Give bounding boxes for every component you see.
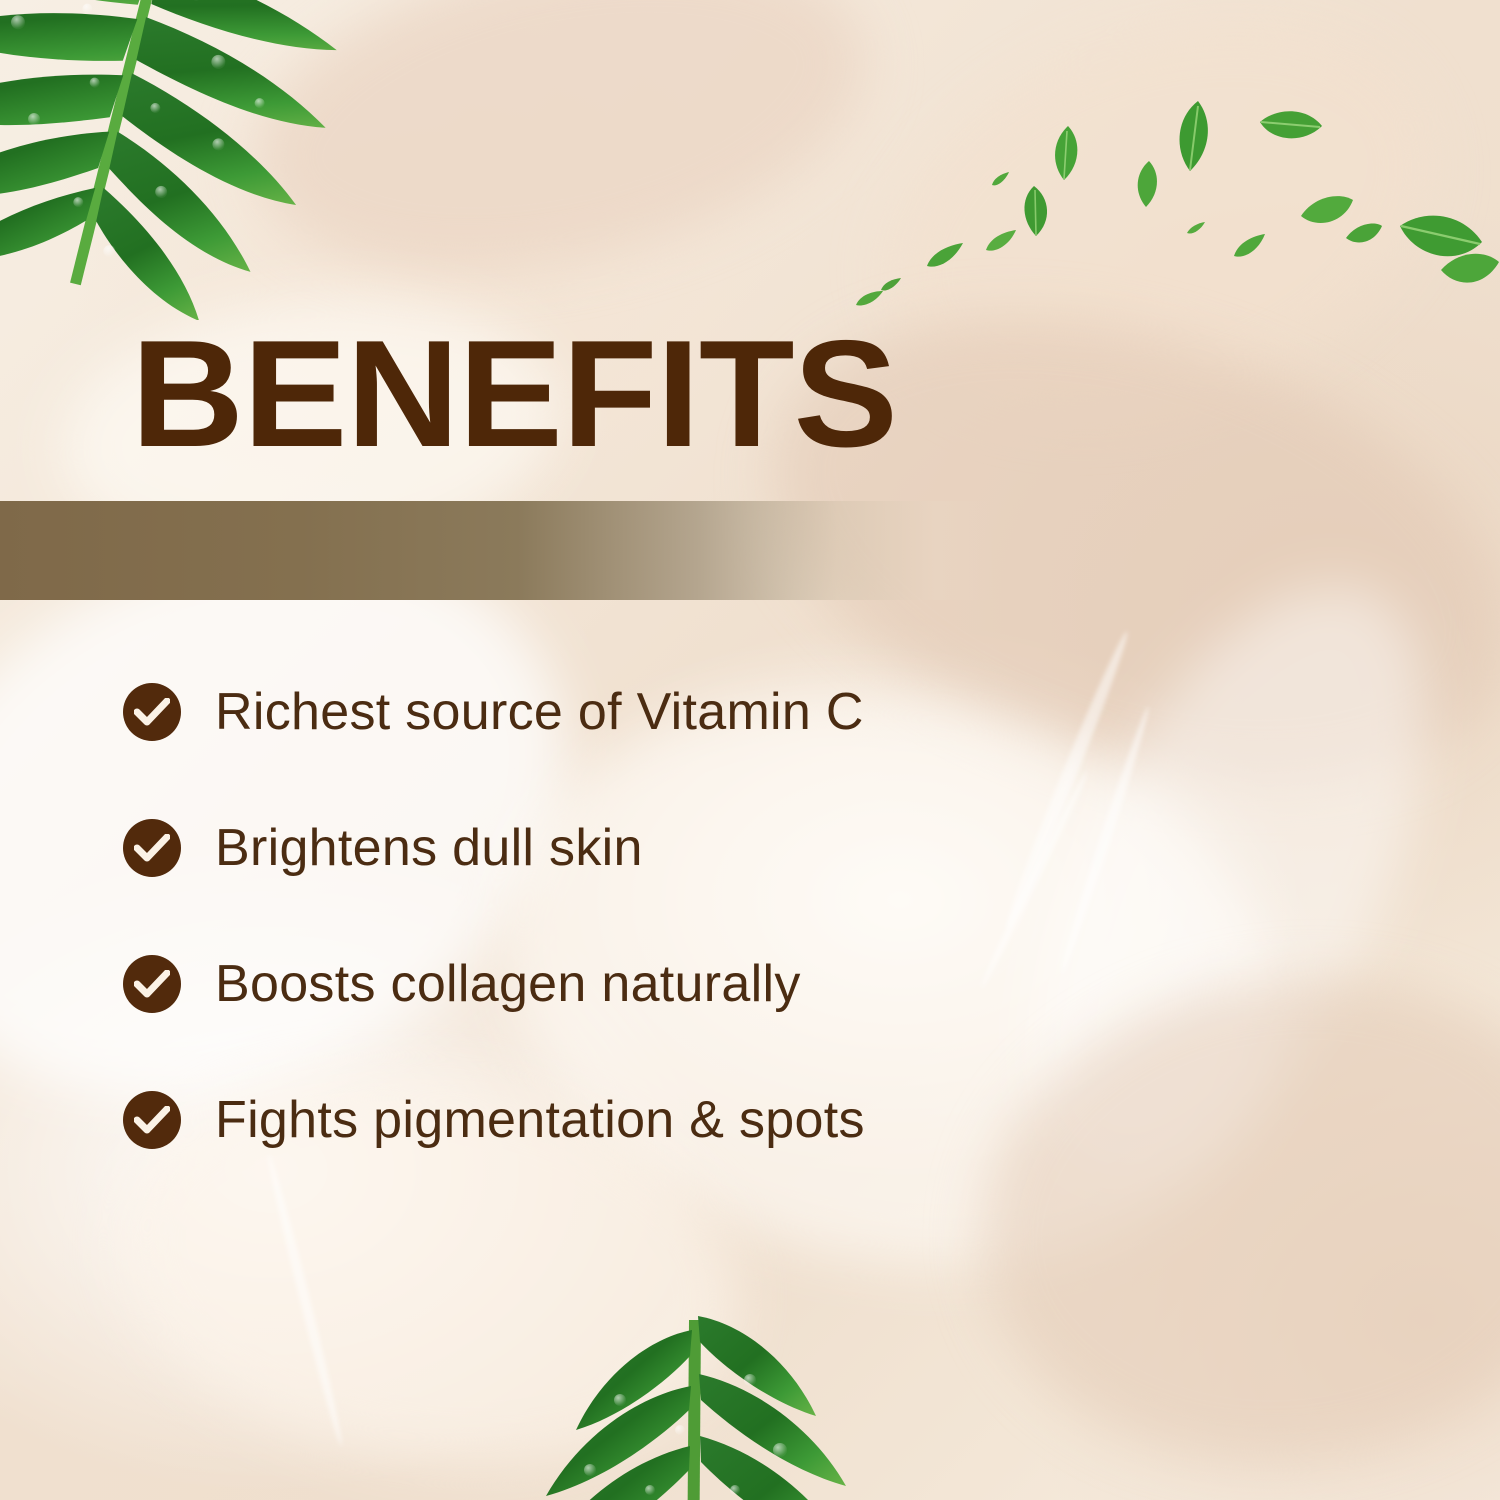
divider-bar — [0, 501, 996, 600]
mint-leaf-icon — [1186, 220, 1206, 236]
check-circle-icon — [123, 683, 181, 741]
check-circle-icon — [123, 955, 181, 1013]
check-circle-icon — [123, 819, 181, 877]
benefits-list: Richest source of Vitamin C Brightens du… — [123, 683, 865, 1149]
mint-leaf-icon — [1258, 106, 1324, 146]
benefits-poster: BENEFITS Richest source of Vitamin C Bri… — [0, 0, 1500, 1500]
mint-leaf-icon — [990, 170, 1010, 188]
mint-leaf-icon — [1440, 248, 1500, 290]
monstera-leaf-icon — [480, 1290, 910, 1500]
mint-leaf-icon — [925, 240, 965, 270]
mint-leaf-icon — [1133, 160, 1163, 208]
monstera-leaf-icon — [0, 0, 340, 320]
mint-leaf-icon — [1172, 100, 1216, 172]
list-item-label: Fights pigmentation & spots — [215, 1090, 865, 1150]
mint-leaf-icon — [880, 275, 902, 293]
page-title: BENEFITS — [131, 318, 897, 470]
mint-leaf-icon — [1050, 125, 1084, 181]
list-item: Brightens dull skin — [123, 819, 865, 877]
check-circle-icon — [123, 1091, 181, 1149]
list-item: Fights pigmentation & spots — [123, 1091, 865, 1149]
list-item-label: Richest source of Vitamin C — [215, 682, 864, 742]
mint-leaf-icon — [985, 228, 1017, 254]
list-item-label: Brightens dull skin — [215, 818, 643, 878]
list-item-label: Boosts collagen naturally — [215, 954, 801, 1014]
mint-leaf-icon — [1345, 220, 1383, 246]
mint-leaf-icon — [1020, 185, 1054, 237]
list-item: Richest source of Vitamin C — [123, 683, 865, 741]
mint-leaf-icon — [1232, 232, 1266, 260]
list-item: Boosts collagen naturally — [123, 955, 865, 1013]
